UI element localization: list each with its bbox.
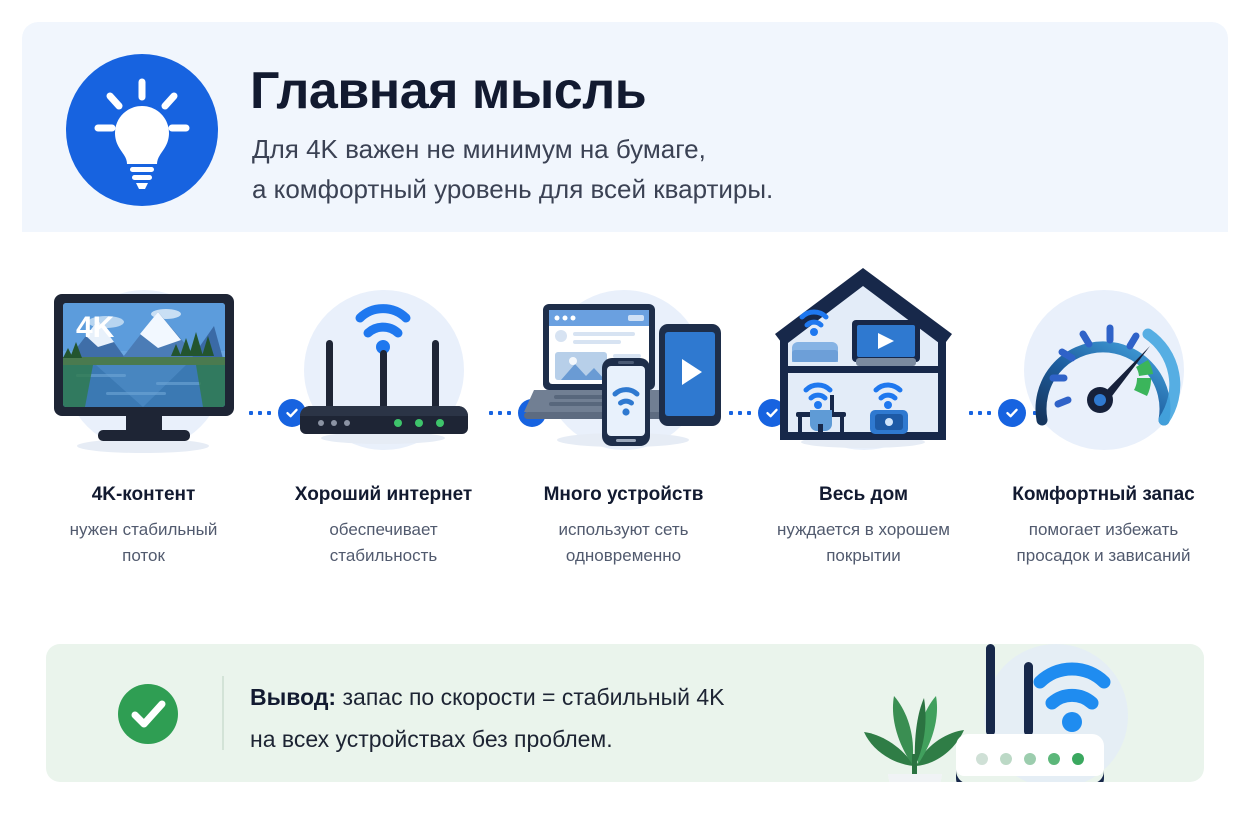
plant-icon [864, 696, 964, 782]
step-title: Хороший интернет [276, 483, 491, 507]
conclusion-text: Вывод: запас по скорости = стабильный 4K… [250, 676, 870, 760]
step-title: Комфортный запас [996, 483, 1211, 507]
router-wifi-icon [276, 262, 491, 477]
speedometer-icon [996, 262, 1211, 477]
conclusion-label: Вывод: [250, 684, 336, 710]
dots-left [969, 411, 991, 415]
header-subtitle-line2: а комфортный уровень для всей квартиры. [252, 172, 773, 206]
step-desc-line2: поток [36, 543, 251, 569]
conclusion-text-line1: запас по скорости = стабильный 4K [336, 684, 724, 710]
antennas [326, 340, 439, 410]
step-title: Весь дом [756, 483, 971, 507]
conclusion-banner: Вывод: запас по скорости = стабильный 4K… [46, 644, 1204, 782]
step-desc-line2: одновременно [516, 543, 731, 569]
lightbulb-icon [66, 54, 218, 206]
step-desc-line1: помогает избежать [996, 517, 1211, 543]
house-coverage-icon [756, 262, 971, 477]
step-desc-line2: стабильность [276, 543, 491, 569]
step-desc-line2: просадок и зависаний [996, 543, 1211, 569]
step-comfort-margin: Комфортный запас помогает избежать проса… [996, 262, 1211, 622]
steps-row: 4K 4K-контент нужен стабильный поток [22, 232, 1228, 622]
step-desc-line2: покрытии [756, 543, 971, 569]
step-desc-line1: нуждается в хорошем [756, 517, 971, 543]
step-desc-line1: нужен стабильный [36, 517, 251, 543]
step-desc-line1: обеспечивает [276, 517, 491, 543]
page-title: Главная мысль [250, 60, 646, 122]
step-many-devices: Много устройств используют сеть одноврем… [516, 262, 731, 622]
step-title: 4K-контент [36, 483, 251, 507]
dots-left [249, 411, 271, 415]
dots-left [489, 411, 511, 415]
divider [222, 676, 224, 750]
check-circle-icon [118, 684, 178, 744]
tv-4k-icon: 4K [36, 262, 251, 477]
header-subtitle-line1: Для 4K важен не минимум на бумаге, [252, 132, 706, 166]
step-desc-line1: используют сеть [516, 517, 731, 543]
wifi-arcs [360, 309, 406, 333]
step-good-internet: Хороший интернет обеспечивает стабильнос… [276, 262, 491, 622]
dots-left [729, 411, 751, 415]
step-4k-content: 4K 4K-контент нужен стабильный поток [36, 262, 251, 622]
step-title: Много устройств [516, 483, 731, 507]
step-whole-house: Весь дом нуждается в хорошем покрытии [756, 262, 971, 622]
tv-4k-label: 4K [76, 311, 115, 344]
multi-devices-icon [516, 262, 731, 477]
header-band: Главная мысль Для 4K важен не минимум на… [22, 22, 1228, 232]
plant-and-router-icon [806, 644, 1146, 782]
infographic-card: Главная мысль Для 4K важен не минимум на… [22, 22, 1228, 811]
conclusion-text-line2: на всех устройствах без проблем. [250, 718, 870, 760]
